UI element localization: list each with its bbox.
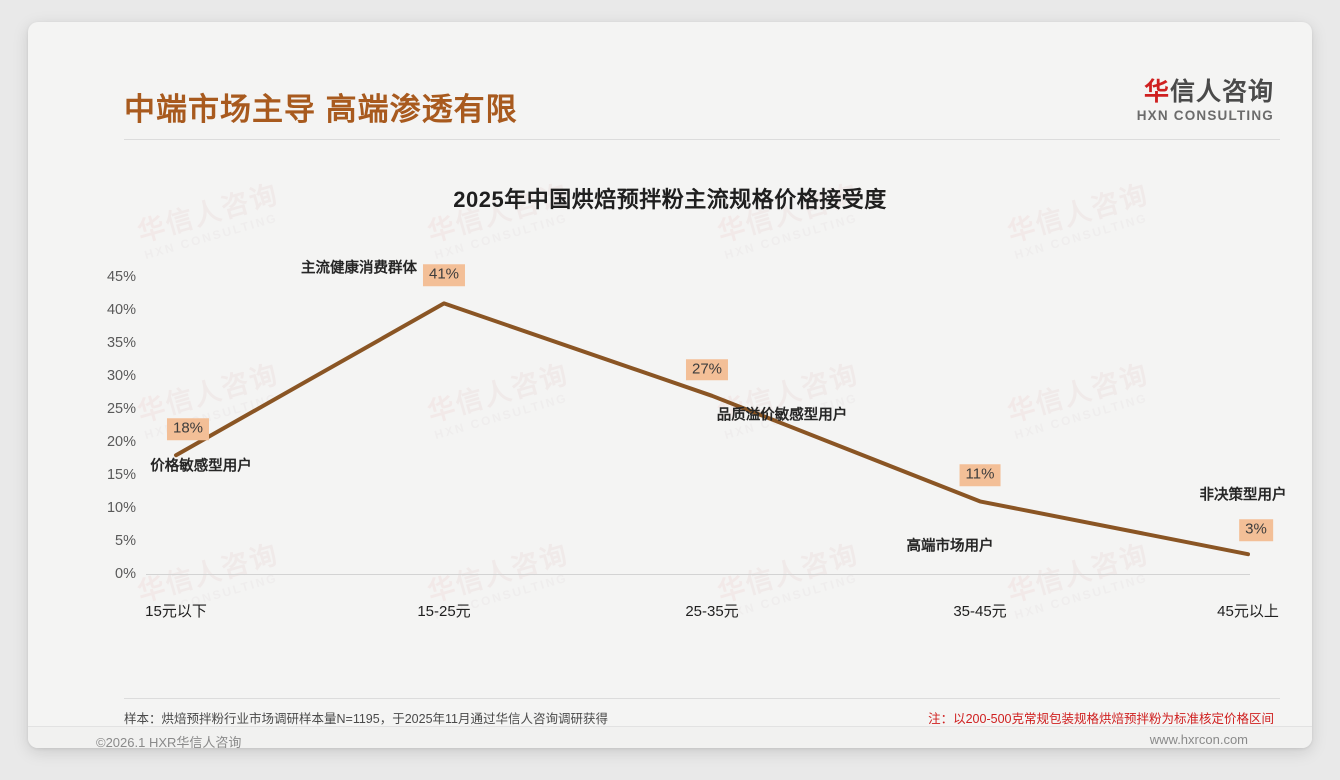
logo-chinese: 华信人咨询 — [1137, 79, 1274, 105]
logo-english: HXN CONSULTING — [1137, 108, 1274, 123]
x-axis-line — [146, 574, 1250, 575]
y-axis-tick-label: 30% — [80, 368, 136, 384]
data-point-annotation: 价格敏感型用户 — [150, 455, 252, 476]
x-axis-tick-label: 45元以上 — [1217, 600, 1279, 621]
data-point-annotation: 非决策型用户 — [1200, 484, 1287, 505]
data-point-label: 41% — [423, 265, 465, 287]
y-axis-tick-label: 20% — [80, 434, 136, 450]
footer-copyright: ©2026.1 HXR华信人咨询 — [96, 732, 241, 748]
data-point-annotation: 高端市场用户 — [907, 535, 994, 556]
footer-divider — [124, 698, 1280, 699]
header-divider — [124, 139, 1280, 140]
y-axis-tick-label: 5% — [80, 533, 136, 549]
footnote-sample: 样本：烘焙预拌粉行业市场调研样本量N=1195，于2025年11月通过华信人咨询… — [124, 708, 608, 727]
data-point-label: 3% — [1239, 519, 1273, 541]
slide-canvas: 华信人咨询HXN CONSULTING华信人咨询HXN CONSULTING华信… — [28, 22, 1312, 748]
y-axis-tick-label: 15% — [80, 467, 136, 483]
logo-accent-char: 华 — [1144, 78, 1170, 106]
x-axis-tick-label: 15元以下 — [145, 600, 207, 621]
y-axis-tick-label: 10% — [80, 500, 136, 516]
x-axis-tick-label: 15-25元 — [417, 600, 470, 621]
slide-header: 中端市场主导 高端渗透有限 华信人咨询 HXN CONSULTING — [28, 22, 1312, 140]
data-series-line — [176, 303, 1248, 554]
brand-logo: 华信人咨询 HXN CONSULTING — [1137, 79, 1274, 123]
y-axis-tick-label: 25% — [80, 401, 136, 417]
x-axis-tick-label: 25-35元 — [685, 600, 738, 621]
data-point-annotation: 品质溢价敏感型用户 — [717, 403, 848, 424]
data-point-label: 27% — [686, 359, 728, 381]
logo-rest-chars: 信人咨询 — [1170, 78, 1274, 106]
page-title: 中端市场主导 高端渗透有限 — [124, 84, 518, 129]
chart-title: 2025年中国烘焙预拌粉主流规格价格接受度 — [28, 182, 1312, 214]
y-axis-tick-label: 45% — [80, 269, 136, 285]
data-point-label: 18% — [167, 418, 209, 440]
footnote-note: 注：以200-500克常规包装规格烘焙预拌粉为标准核定价格区间 — [928, 708, 1274, 727]
data-point-label: 11% — [960, 465, 1001, 487]
y-axis-tick-label: 35% — [80, 335, 136, 351]
y-axis-tick-label: 0% — [80, 566, 136, 582]
data-point-annotation: 主流健康消费群体 — [301, 257, 417, 278]
x-axis-tick-label: 35-45元 — [953, 600, 1006, 621]
footer-url[interactable]: www.hxrcon.com — [1150, 732, 1248, 747]
y-axis-tick-label: 40% — [80, 302, 136, 318]
